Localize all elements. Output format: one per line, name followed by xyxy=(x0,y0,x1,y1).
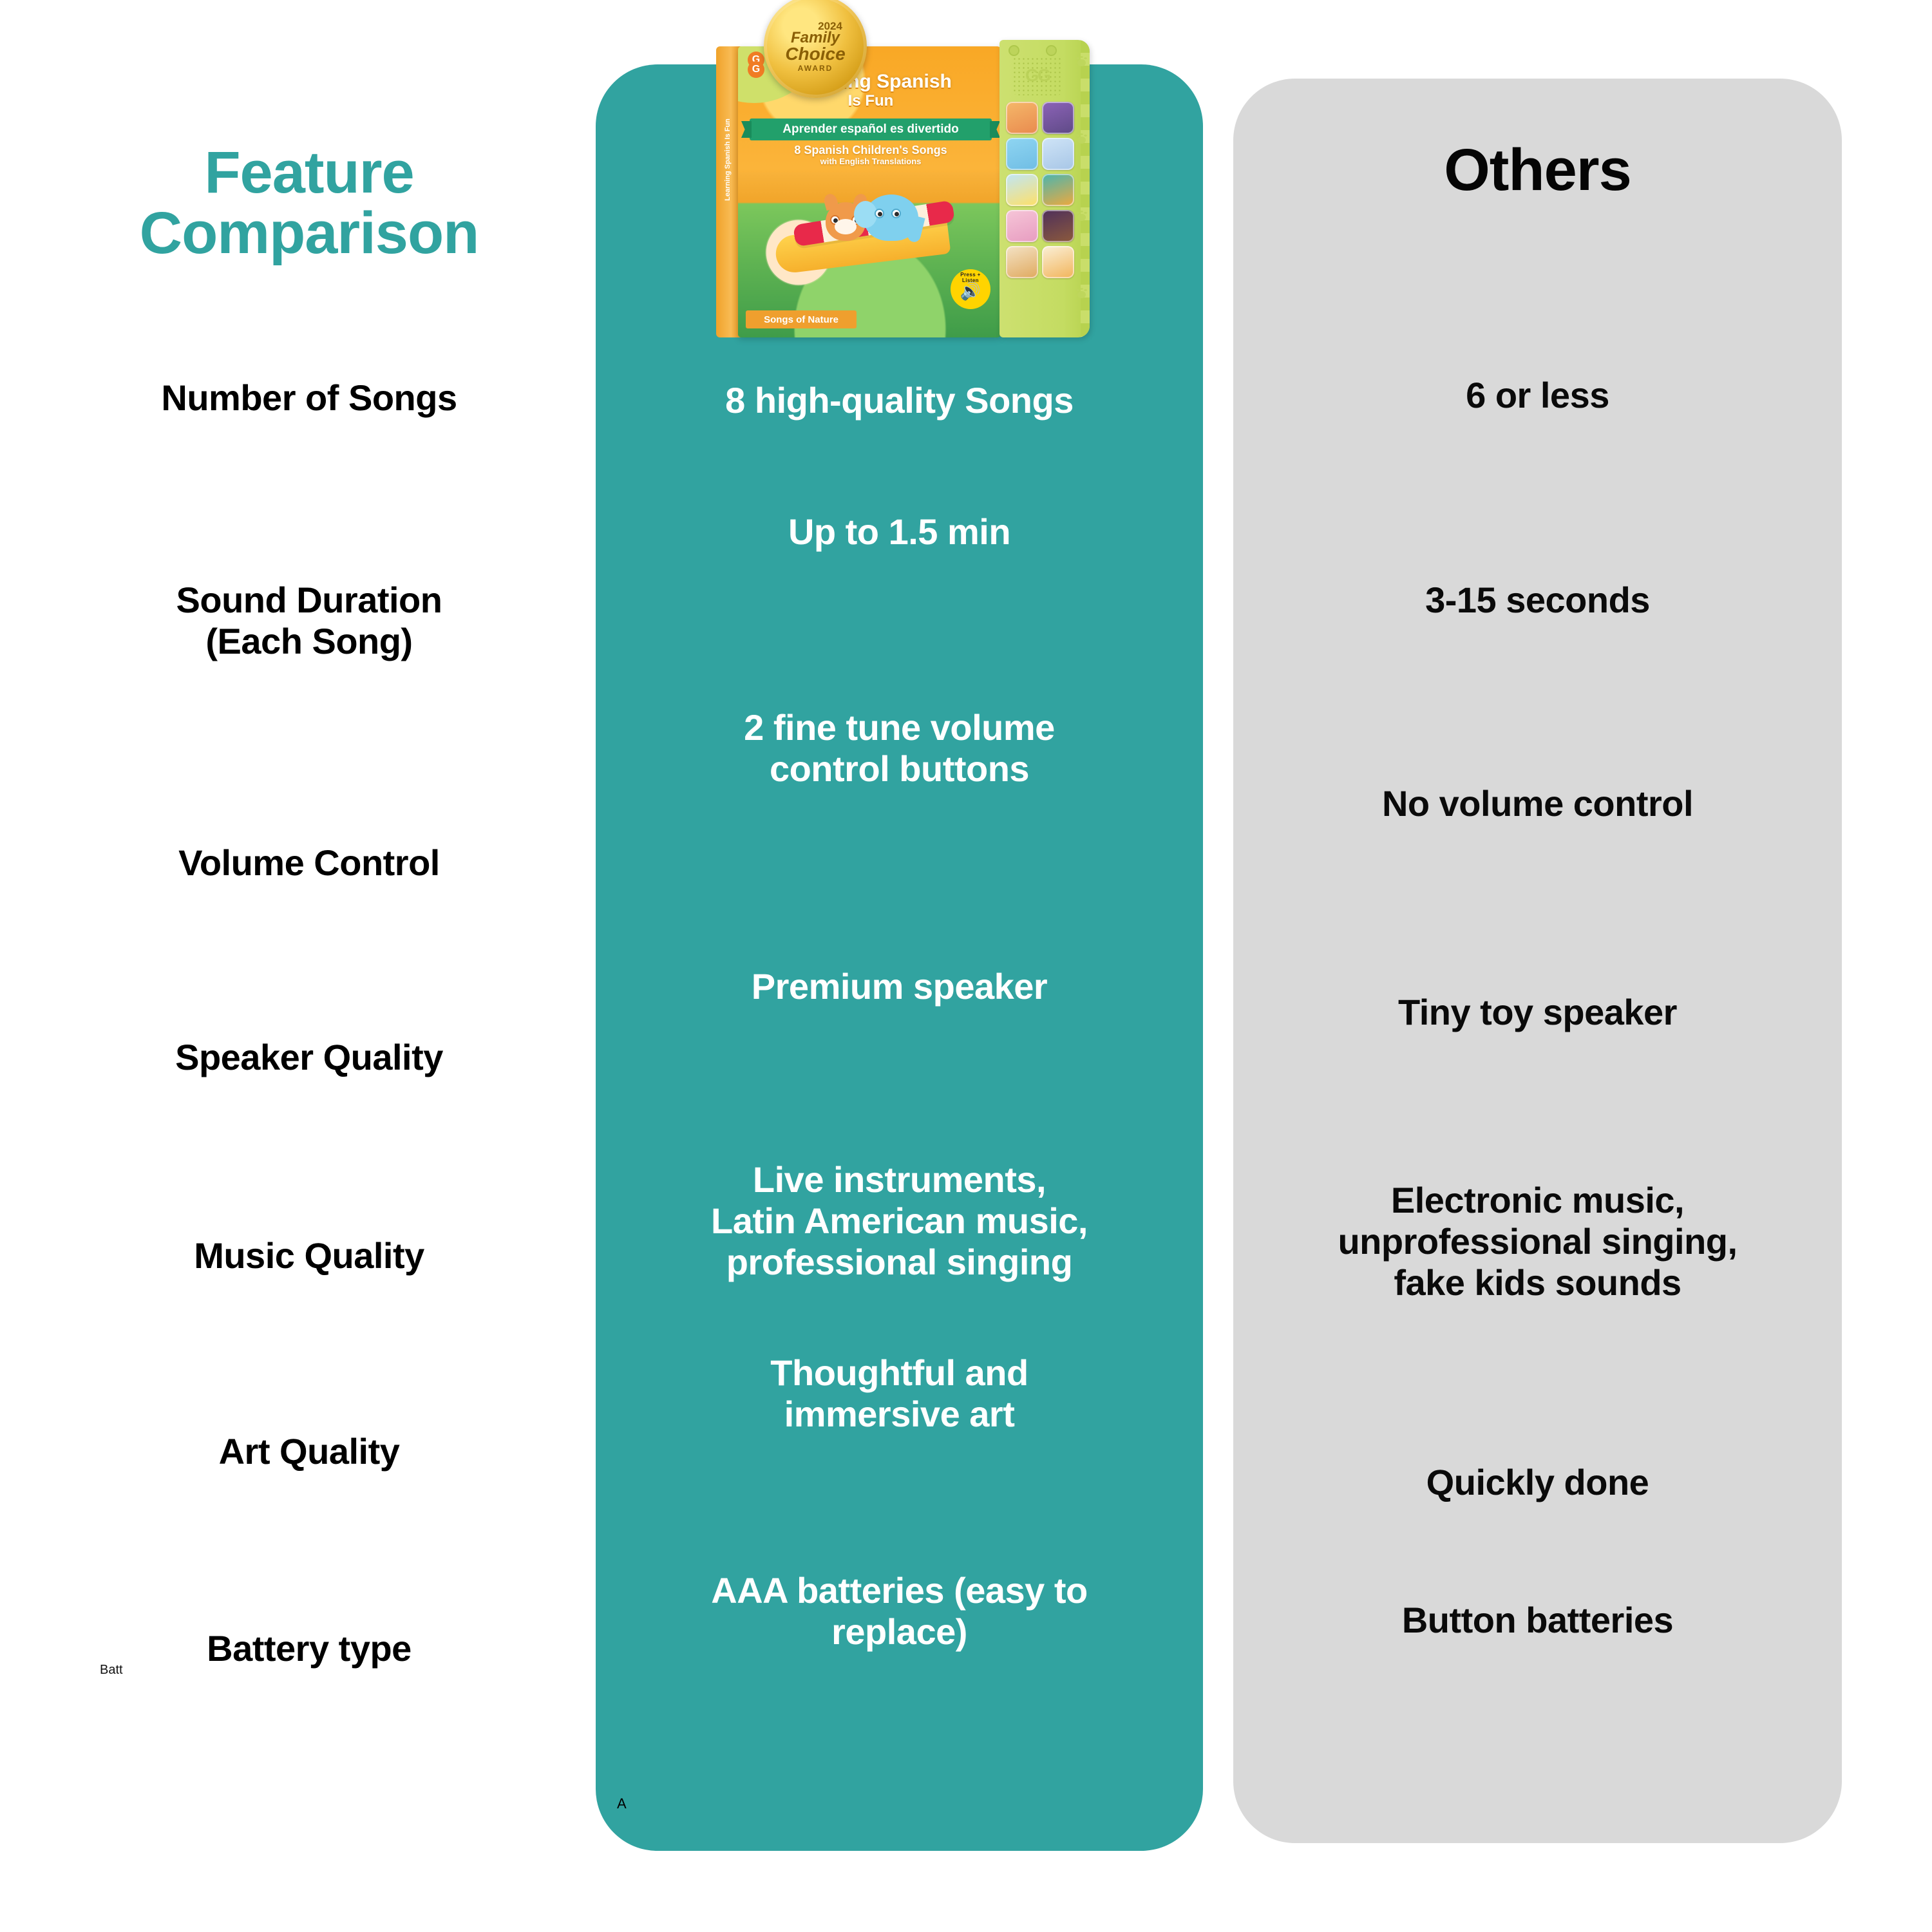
book-spine: Learning Spanish Is Fun xyxy=(716,46,741,337)
paw-print-icon xyxy=(1077,291,1086,298)
value-text-line-1: AAA batteries (easy to xyxy=(711,1570,1087,1611)
feature-label-column: Feature Comparison Number of Songs Sound… xyxy=(26,0,592,1932)
label-text: Battery type xyxy=(207,1628,412,1669)
value-text-line-3: professional singing xyxy=(726,1242,1073,1282)
others-value-sound-duration: 3-15 seconds xyxy=(1233,580,1842,621)
cover-illustration: Songs of Nature Press + Listen 🔊 xyxy=(738,173,1002,337)
elephant-eye-right xyxy=(891,209,901,218)
cover-title-line-2: Is Fun xyxy=(753,93,988,109)
cover-spanish-banner-text: Aprender español es divertido xyxy=(782,122,958,137)
sound-button-barn-cats[interactable] xyxy=(1042,174,1074,206)
product-image-sound-book: Learning Spanish Is Fun G G Learning Spa… xyxy=(716,33,1090,343)
others-column-card xyxy=(1233,79,1842,1843)
value-text: No volume control xyxy=(1382,783,1693,824)
label-text: Speaker Quality xyxy=(175,1037,443,1077)
volume-down-screw-icon[interactable] xyxy=(1009,45,1019,56)
sound-button-elephant-plane[interactable] xyxy=(1006,138,1038,170)
others-value-number-of-songs: 6 or less xyxy=(1233,375,1842,416)
press-listen-badge: Press + Listen 🔊 xyxy=(951,269,990,309)
book-spine-text: Learning Spanish Is Fun xyxy=(724,95,732,224)
stray-text-artifact: Batt xyxy=(100,1663,123,1678)
sound-button-owls-night[interactable] xyxy=(1042,210,1074,242)
award-line-2: Choice xyxy=(785,45,845,63)
feature-label-art-quality: Art Quality xyxy=(26,1431,592,1472)
value-text: Quickly done xyxy=(1426,1462,1649,1502)
feature-label-sound-duration: Sound Duration (Each Song) xyxy=(26,580,592,662)
label-text: Music Quality xyxy=(194,1235,424,1276)
press-listen-ring: Press + Listen xyxy=(952,271,989,307)
value-text-line-2: control buttons xyxy=(770,748,1029,789)
paw-print-icon xyxy=(1077,137,1086,144)
elephant-eye-left xyxy=(875,209,884,218)
cover-bottom-banner: Songs of Nature xyxy=(746,310,857,328)
others-value-art-quality: Quickly done xyxy=(1233,1462,1842,1503)
value-text: Premium speaker xyxy=(752,966,1047,1007)
page-title: Feature Comparison xyxy=(26,143,592,264)
value-text-line-2: unprofessional singing, xyxy=(1338,1221,1737,1262)
panel-gogo-logo: GG xyxy=(1014,66,1061,85)
others-value-battery-type: Button batteries xyxy=(1233,1600,1842,1641)
cover-bottom-banner-text: Songs of Nature xyxy=(764,314,838,325)
stray-text-artifact-teal: A xyxy=(617,1795,627,1812)
title-line-2: Comparison xyxy=(140,200,479,266)
others-column-title: Others xyxy=(1233,137,1842,204)
feature-label-speaker-quality: Speaker Quality xyxy=(26,1037,592,1078)
sound-button-dog-face[interactable] xyxy=(1006,246,1038,278)
feature-label-volume-control: Volume Control xyxy=(26,842,592,884)
paw-print-icon xyxy=(1077,59,1086,66)
cover-song-count-line-2: with English Translations xyxy=(753,157,988,166)
value-text: Up to 1.5 min xyxy=(788,511,1010,552)
elephant-character xyxy=(864,194,918,241)
feature-label-number-of-songs: Number of Songs xyxy=(26,377,592,419)
volume-up-screw-icon[interactable] xyxy=(1046,45,1057,56)
value-text: 3-15 seconds xyxy=(1425,580,1650,620)
sound-button-sun[interactable] xyxy=(1006,174,1038,206)
value-text-line-3: fake kids sounds xyxy=(1394,1262,1681,1303)
book-front-cover: G G Learning Spanish Is Fun Aprender esp… xyxy=(738,46,1002,337)
ours-value-volume-control: 2 fine tune volume control buttons xyxy=(596,707,1203,790)
fox-ear-left xyxy=(822,193,839,211)
title-line-1: Feature xyxy=(204,140,413,205)
others-value-volume-control: No volume control xyxy=(1233,783,1842,824)
sound-button-dove-garden[interactable] xyxy=(1006,210,1038,242)
sound-module-panel: GG xyxy=(999,40,1090,337)
label-text-line-2: (Each Song) xyxy=(205,621,412,661)
value-text: Button batteries xyxy=(1402,1600,1673,1640)
value-text-line-1: Electronic music, xyxy=(1391,1180,1684,1220)
others-value-speaker-quality: Tiny toy speaker xyxy=(1233,992,1842,1033)
ours-value-sound-duration: Up to 1.5 min xyxy=(596,511,1203,553)
paw-print-icon xyxy=(1077,214,1086,221)
cover-spanish-banner: Aprender español es divertido xyxy=(750,118,992,140)
value-text: 8 high-quality Songs xyxy=(725,380,1074,421)
label-text: Number of Songs xyxy=(161,377,457,418)
sound-button-grid xyxy=(1006,102,1075,278)
ours-value-battery-type: AAA batteries (easy to replace) xyxy=(596,1570,1203,1653)
value-text: 6 or less xyxy=(1466,375,1609,415)
sound-button-gogo-logo[interactable] xyxy=(1042,246,1074,278)
label-text: Volume Control xyxy=(178,842,440,883)
value-text: Tiny toy speaker xyxy=(1398,992,1677,1032)
ours-value-speaker-quality: Premium speaker xyxy=(596,966,1203,1007)
ours-value-music-quality: Live instruments, Latin American music, … xyxy=(596,1159,1203,1282)
sound-button-cats-snow[interactable] xyxy=(1042,138,1074,170)
value-text-line-2: replace) xyxy=(831,1611,967,1652)
value-text-line-2: Latin American music, xyxy=(711,1200,1088,1241)
sound-button-elephant-bird[interactable] xyxy=(1006,102,1038,134)
value-text-line-1: Live instruments, xyxy=(753,1159,1046,1200)
elephant-ear xyxy=(854,201,877,228)
sound-button-fox-elephant-night[interactable] xyxy=(1042,102,1074,134)
label-text-line-1: Sound Duration xyxy=(176,580,442,620)
ours-value-number-of-songs: 8 high-quality Songs xyxy=(596,380,1203,421)
press-listen-text: Press + Listen xyxy=(952,272,989,283)
others-value-music-quality: Electronic music, unprofessional singing… xyxy=(1233,1180,1842,1303)
cover-song-count-line-1: 8 Spanish Children's Songs xyxy=(794,144,947,156)
award-line-3: AWARD xyxy=(798,64,833,73)
value-text-line-2: immersive art xyxy=(784,1394,1015,1434)
feature-label-music-quality: Music Quality xyxy=(26,1235,592,1276)
label-text: Art Quality xyxy=(219,1431,400,1472)
cover-song-count: 8 Spanish Children's Songs with English … xyxy=(753,144,988,166)
value-text-line-1: 2 fine tune volume xyxy=(744,707,1055,748)
fox-muzzle xyxy=(835,219,857,234)
value-text-line-1: Thoughtful and xyxy=(770,1352,1028,1393)
comparison-infographic: Feature Comparison Number of Songs Sound… xyxy=(0,0,1932,1932)
ours-value-art-quality: Thoughtful and immersive art xyxy=(596,1352,1203,1435)
